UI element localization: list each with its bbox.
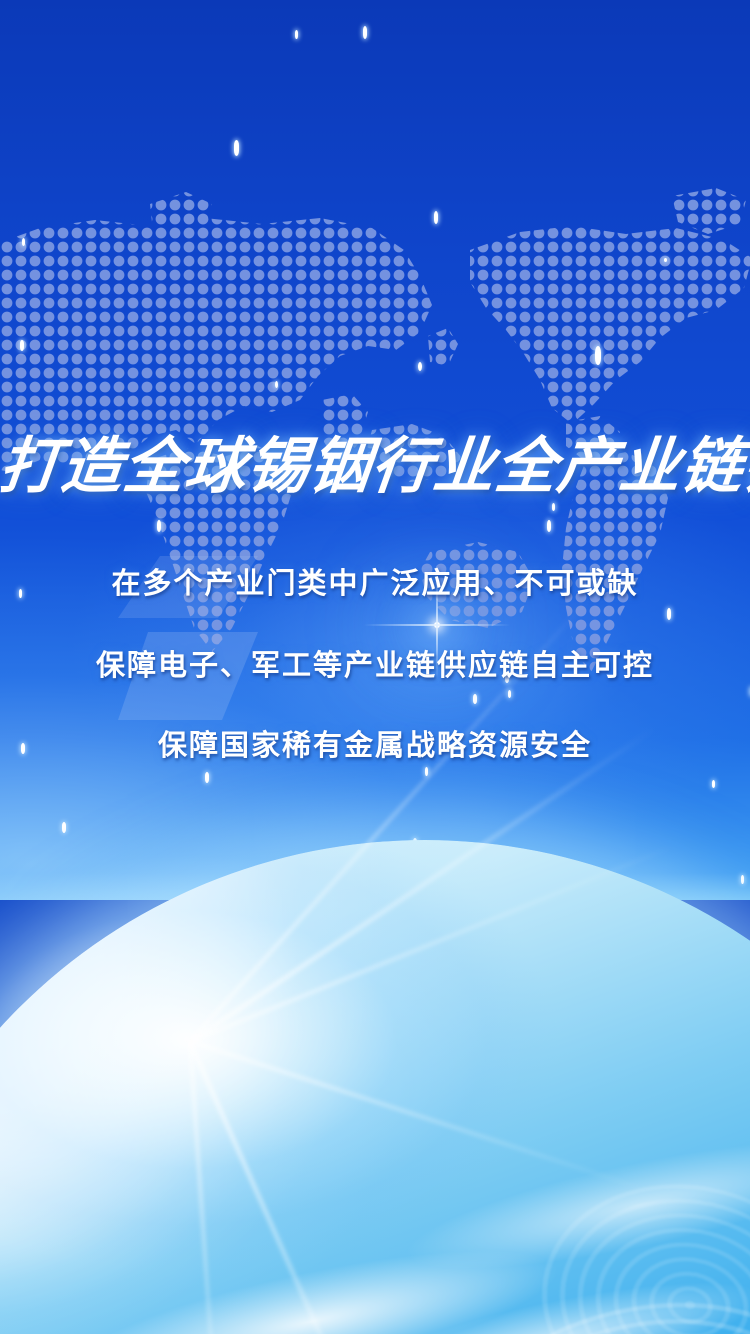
earth-horizon (0, 840, 750, 1334)
subtitle-line-3: 保障国家稀有金属战略资源安全 (0, 722, 750, 764)
subtitle-line-2: 保障电子、军工等产业链供应链自主可控 (0, 642, 750, 684)
subtitle-line-1: 在多个产业门类中广泛应用、不可或缺 (0, 560, 750, 602)
poster-canvas: 打造全球锡铟行业全产业链链主 在多个产业门类中广泛应用、不可或缺 保障电子、军工… (0, 0, 750, 1334)
page-title: 打造全球锡铟行业全产业链链主 (0, 416, 750, 505)
